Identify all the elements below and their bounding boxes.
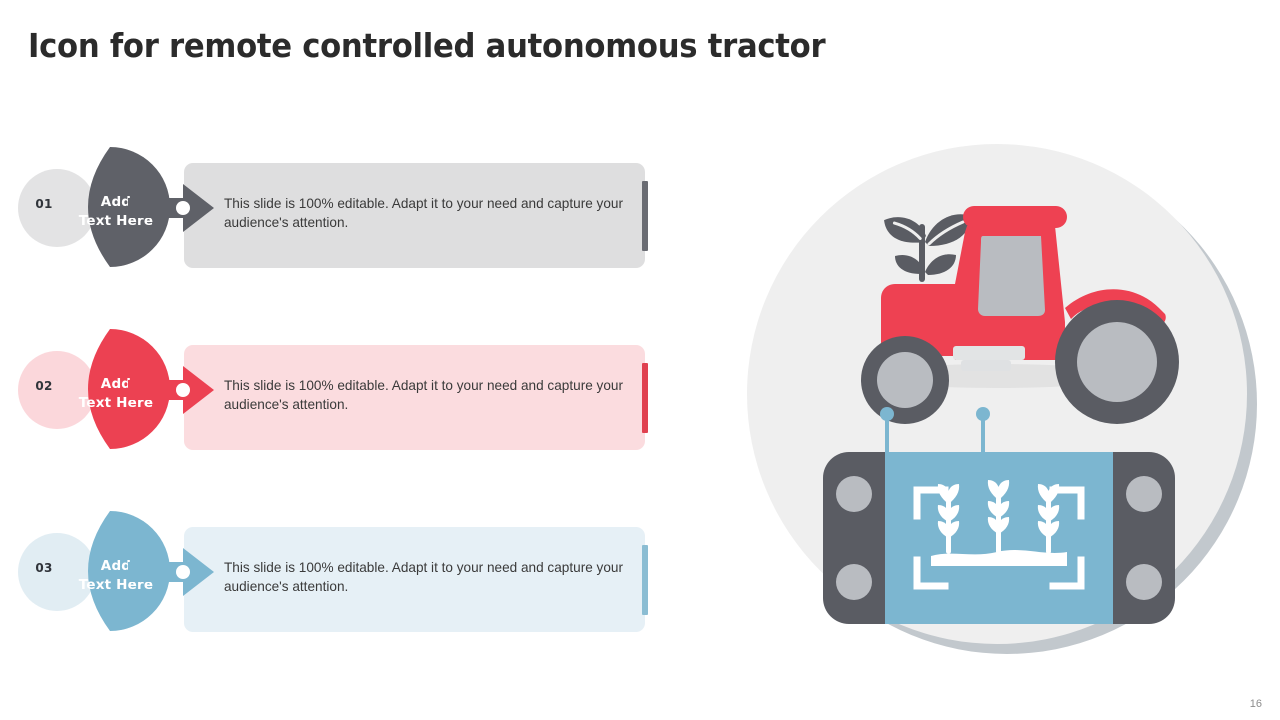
remote-button: [1126, 564, 1162, 600]
tractor-illustration: [735, 132, 1265, 662]
panel-body-text: This slide is 100% editable. Adapt it to…: [224, 377, 629, 414]
antenna-tip-right: [976, 407, 990, 421]
panel-accent-bar: [642, 181, 648, 251]
list-item[interactable]: 01 Add Text Here This slide is 100% edit…: [0, 140, 700, 315]
slide-canvas: Icon for remote controlled autonomous tr…: [0, 0, 1280, 720]
remote-button: [1126, 476, 1162, 512]
panel-accent-bar: [642, 545, 648, 615]
tractor-front-hub: [877, 352, 933, 408]
page-title: Icon for remote controlled autonomous tr…: [28, 26, 825, 65]
panel-body-text: This slide is 100% editable. Adapt it to…: [224, 559, 629, 596]
tractor-rear-hub: [1077, 322, 1157, 402]
panel-body-text: This slide is 100% editable. Adapt it to…: [224, 195, 629, 232]
step-panel[interactable]: This slide is 100% editable. Adapt it to…: [184, 163, 645, 268]
step-number-label: 03: [30, 561, 58, 575]
list-item[interactable]: 02 Add Text Here This slide is 100% edit…: [0, 322, 700, 497]
antenna-tip-left: [880, 407, 894, 421]
panel-accent-bar: [642, 363, 648, 433]
tractor-cab-roof: [963, 206, 1067, 228]
tractor-cab-window: [978, 236, 1045, 316]
tractor-step-lower: [961, 360, 1011, 371]
page-number: 16: [1250, 698, 1262, 710]
step-panel[interactable]: This slide is 100% editable. Adapt it to…: [184, 345, 645, 450]
arrow-connector: [128, 184, 214, 232]
remote-button: [836, 564, 872, 600]
steps-list: 01 Add Text Here This slide is 100% edit…: [0, 140, 700, 660]
step-number-label: 02: [30, 379, 58, 393]
remote-button: [836, 476, 872, 512]
list-item[interactable]: 03 Add Text Here This slide is 100% edit…: [0, 504, 700, 679]
arrow-connector: [128, 548, 214, 596]
step-panel[interactable]: This slide is 100% editable. Adapt it to…: [184, 527, 645, 632]
tractor-step: [953, 346, 1025, 360]
step-number-label: 01: [30, 197, 58, 211]
arrow-connector: [128, 366, 214, 414]
